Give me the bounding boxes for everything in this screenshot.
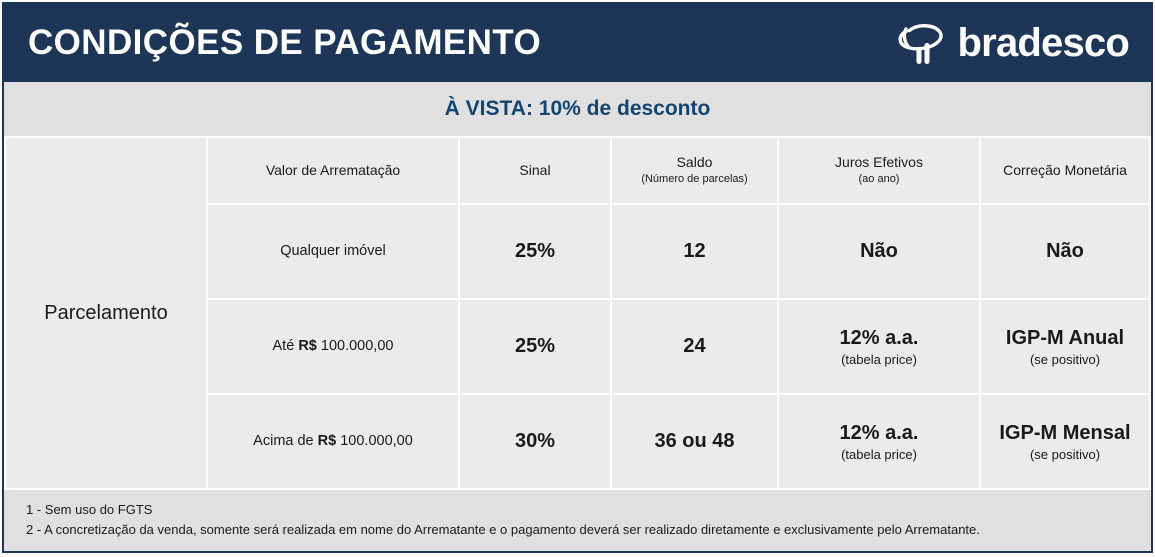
cell-sinal: 30% [460,395,610,488]
cell-correcao: IGP-M Anual(se positivo) [981,300,1149,393]
column-header-juros-title: Juros Efetivos [835,154,923,170]
cell-valor-prefix: Acima de [253,433,317,449]
column-header-sinal: Sinal [460,138,610,203]
column-header-juros-sub: (ao ano) [785,173,973,187]
page-title: CONDIÇÕES DE PAGAMENTO [28,23,541,63]
cell-saldo: 36 ou 48 [612,395,777,488]
cell-valor-currency: R$ [318,433,337,449]
cell-juros-value: 12% a.a. [840,327,919,349]
footnote-1: 1 - Sem uso do FGTS [26,500,1151,520]
cell-correcao-value: Não [1046,240,1084,262]
conditions-table-wrap: Parcelamento Valor de Arrematação Sinal … [4,136,1151,490]
payment-conditions-card: CONDIÇÕES DE PAGAMENTO bradesco À [2,2,1153,553]
conditions-table: Parcelamento Valor de Arrematação Sinal … [4,136,1151,490]
card-header: CONDIÇÕES DE PAGAMENTO bradesco [4,4,1151,82]
column-header-saldo: Saldo (Número de parcelas) [612,138,777,203]
cell-juros: 12% a.a.(tabela price) [779,300,979,393]
footnote-2: 2 - A concretização da venda, somente se… [26,520,1151,540]
cell-juros-value: Não [860,240,898,262]
discount-lead: À VISTA: 10% [445,97,581,120]
cell-valor-prefix: Qualquer imóvel [280,243,386,259]
cell-juros-value: 12% a.a. [840,422,919,444]
cell-valor: Até R$ 100.000,00 [208,300,458,393]
table-header-row: Parcelamento Valor de Arrematação Sinal … [6,138,1149,203]
cell-correcao: Não [981,205,1149,298]
cell-juros: Não [779,205,979,298]
cell-correcao: IGP-M Mensal(se positivo) [981,395,1149,488]
discount-banner-text: À VISTA: 10% de desconto [445,97,711,121]
cell-valor-currency: R$ [298,338,317,354]
column-header-valor-title: Valor de Arrematação [266,162,400,178]
cell-correcao-value: IGP-M Anual [1006,327,1124,349]
cell-juros: 12% a.a.(tabela price) [779,395,979,488]
discount-rest: de desconto [581,97,711,120]
cell-correcao-note: (se positivo) [987,352,1143,368]
cell-saldo: 24 [612,300,777,393]
column-header-sinal-title: Sinal [519,162,550,178]
brand-name: bradesco [958,23,1129,63]
bradesco-tree-icon [894,17,950,69]
cell-juros-note: (tabela price) [785,352,973,368]
bradesco-logo: bradesco [894,17,1129,69]
cell-correcao-note: (se positivo) [987,447,1143,463]
cell-correcao-value: IGP-M Mensal [999,422,1130,444]
cell-sinal: 25% [460,300,610,393]
footnotes: 1 - Sem uso do FGTS 2 - A concretização … [4,490,1151,551]
cell-valor-prefix: Até [273,338,299,354]
row-group-label-parcelamento: Parcelamento [6,138,206,488]
cell-valor-suffix: 100.000,00 [317,338,394,354]
cell-valor: Qualquer imóvel [208,205,458,298]
column-header-juros: Juros Efetivos (ao ano) [779,138,979,203]
column-header-saldo-sub: (Número de parcelas) [618,173,771,187]
column-header-valor: Valor de Arrematação [208,138,458,203]
cell-saldo: 12 [612,205,777,298]
cell-valor-suffix: 100.000,00 [336,433,413,449]
column-header-saldo-title: Saldo [677,154,713,170]
column-header-correcao: Correção Monetária [981,138,1149,203]
column-header-correcao-title: Correção Monetária [1003,162,1127,178]
discount-banner: À VISTA: 10% de desconto [4,82,1151,136]
cell-valor: Acima de R$ 100.000,00 [208,395,458,488]
cell-juros-note: (tabela price) [785,447,973,463]
cell-sinal: 25% [460,205,610,298]
